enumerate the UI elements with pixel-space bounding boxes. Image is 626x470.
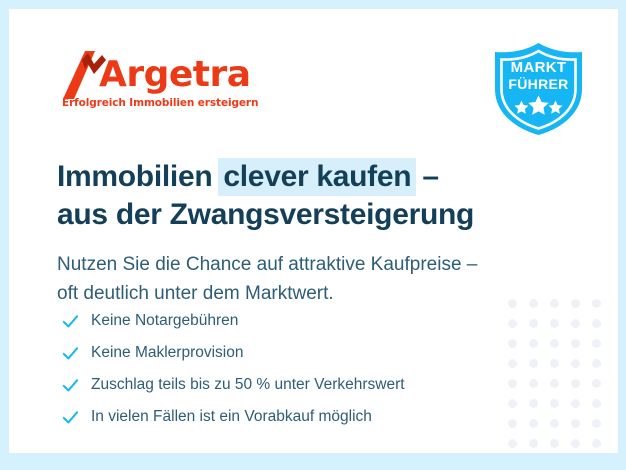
list-item: Zuschlag teils bis zu 50 % unter Verkehr… — [61, 369, 521, 401]
list-item-label: In vielen Fällen ist ein Vorabkauf mögli… — [91, 407, 372, 427]
dot — [571, 359, 580, 368]
dot — [571, 299, 580, 308]
dot — [529, 319, 538, 328]
list-item: Keine Notargebühren — [61, 305, 521, 337]
dot — [592, 319, 601, 328]
dot — [529, 439, 538, 448]
check-icon — [61, 375, 91, 395]
list-item: In vielen Fällen ist ein Vorabkauf mögli… — [61, 401, 521, 433]
markt-fuehrer-badge: MARKT FÜHRER — [490, 40, 587, 137]
check-icon — [61, 407, 91, 427]
logo-tagline: Erfolgreich Immobilien ersteigern — [62, 97, 258, 109]
dot — [592, 359, 601, 368]
dot — [592, 399, 601, 408]
dot — [529, 399, 538, 408]
list-item-label: Zuschlag teils bis zu 50 % unter Verkehr… — [91, 375, 405, 395]
subheadline-line2: oft deutlich unter dem Marktwert. — [57, 283, 334, 304]
card-panel: Argetra Erfolgreich Immobilien ersteiger… — [9, 9, 618, 453]
advertisement-card: Argetra Erfolgreich Immobilien ersteiger… — [0, 0, 626, 470]
dot — [592, 379, 601, 388]
list-item: Keine Maklerprovision — [61, 337, 521, 369]
headline-highlight: clever kaufen — [218, 158, 416, 196]
dot — [571, 319, 580, 328]
dot — [529, 379, 538, 388]
dot — [571, 339, 580, 348]
headline-line2: aus der Zwangsversteigerung — [57, 198, 474, 231]
benefits-checklist: Keine Notargebühren Keine Maklerprovisio… — [61, 305, 521, 433]
dot — [550, 319, 559, 328]
headline-line1-prefix: Immobilien — [57, 160, 220, 193]
dot — [550, 439, 559, 448]
dot — [571, 419, 580, 428]
list-item-label: Keine Maklerprovision — [91, 343, 244, 363]
dot — [592, 419, 601, 428]
dot — [571, 379, 580, 388]
logo-wordmark: Argetra — [99, 53, 251, 97]
dot — [529, 339, 538, 348]
shield-icon — [495, 43, 582, 135]
headline-line1-suffix: – — [414, 160, 438, 193]
page-title: Immobilien clever kaufen – aus der Zwang… — [57, 158, 527, 234]
dot — [550, 399, 559, 408]
argetra-logo: Argetra Erfolgreich Immobilien ersteiger… — [57, 45, 257, 121]
dot — [550, 359, 559, 368]
check-icon — [61, 343, 91, 363]
logo-row: Argetra — [57, 45, 257, 101]
dot — [550, 339, 559, 348]
dot — [508, 439, 517, 448]
subheadline-line1: Nutzen Sie die Chance auf attraktive Kau… — [57, 254, 477, 275]
dot — [592, 299, 601, 308]
subheadline: Nutzen Sie die Chance auf attraktive Kau… — [57, 250, 557, 308]
dot — [571, 439, 580, 448]
dot — [529, 419, 538, 428]
dot — [529, 359, 538, 368]
dot — [550, 419, 559, 428]
dot — [592, 339, 601, 348]
dot — [571, 399, 580, 408]
list-item-label: Keine Notargebühren — [91, 311, 238, 331]
dot — [550, 379, 559, 388]
check-icon — [61, 311, 91, 331]
dot — [592, 439, 601, 448]
